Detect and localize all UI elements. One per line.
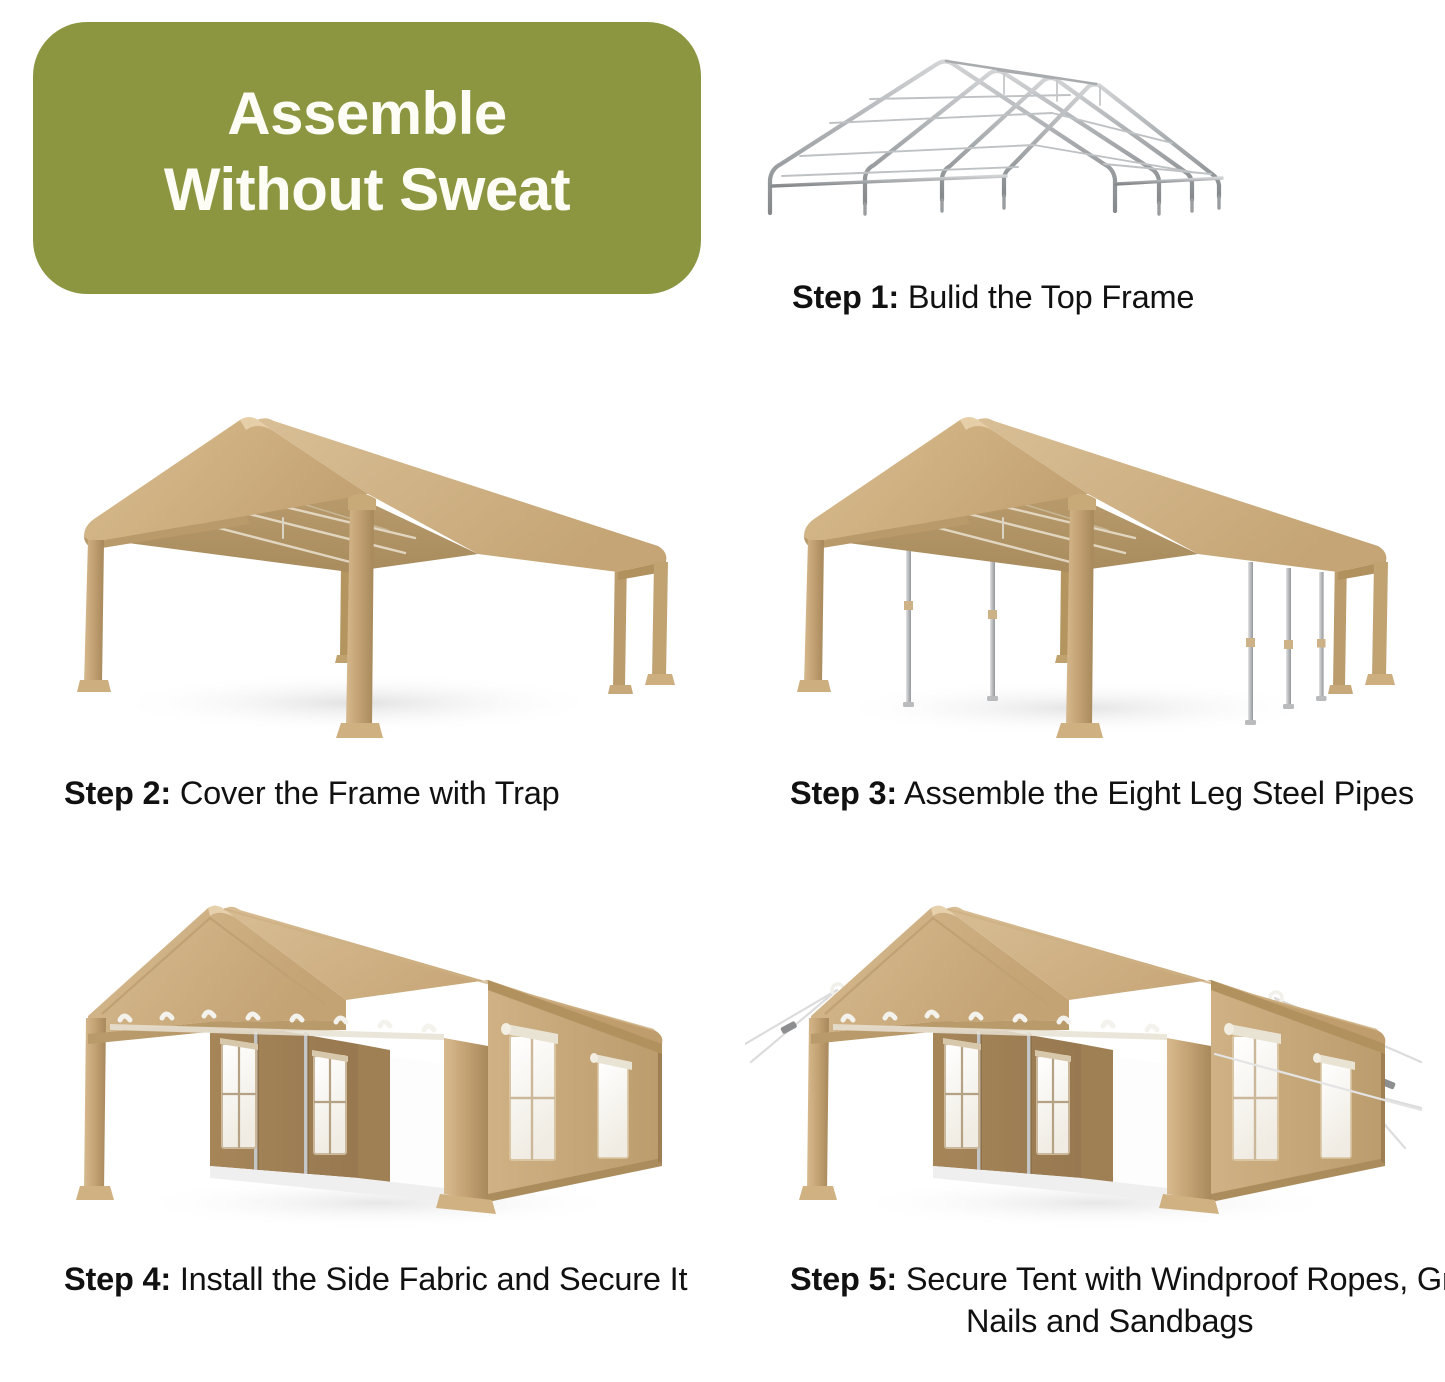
step-5-text: Secure Tent with Windproof Ropes, Ground… — [906, 1261, 1445, 1339]
step-1-text: Bulid the Top Frame — [908, 279, 1194, 315]
headline-line-2: Without Sweat — [164, 156, 570, 223]
step-5-caption: Step 5: Secure Tent with Windproof Ropes… — [790, 1258, 1445, 1343]
step-1-caption: Step 1: Bulid the Top Frame — [792, 276, 1352, 318]
step-4-illustration — [58, 848, 684, 1248]
step-2-text: Cover the Frame with Trap — [180, 775, 560, 811]
step-4-label: Step 4: — [64, 1261, 171, 1297]
headline-badge: Assemble Without Sweat — [33, 22, 701, 294]
assembly-infographic: Assemble Without Sweat — [0, 0, 1445, 1382]
step-4-text: Install the Side Fabric and Secure It — [180, 1261, 687, 1297]
headline-line-1: Assemble — [227, 80, 506, 147]
step-1-illustration — [752, 28, 1297, 228]
step-5-label: Step 5: — [790, 1261, 897, 1297]
step-2-caption: Step 2: Cover the Frame with Trap — [64, 772, 704, 814]
step-3-text: Assemble the Eight Leg Steel Pipes — [904, 775, 1414, 811]
step-3-illustration — [778, 358, 1404, 758]
step-1-label: Step 1: — [792, 279, 899, 315]
step-5-illustration — [745, 848, 1425, 1248]
step-3-caption: Step 3: Assemble the Eight Leg Steel Pip… — [790, 772, 1445, 814]
headline-badge-text: Assemble Without Sweat — [164, 76, 570, 227]
step-2-illustration — [58, 358, 684, 758]
step-2-label: Step 2: — [64, 775, 171, 811]
step-3-label: Step 3: — [790, 775, 897, 811]
step-4-caption: Step 4: Install the Side Fabric and Secu… — [64, 1258, 860, 1300]
